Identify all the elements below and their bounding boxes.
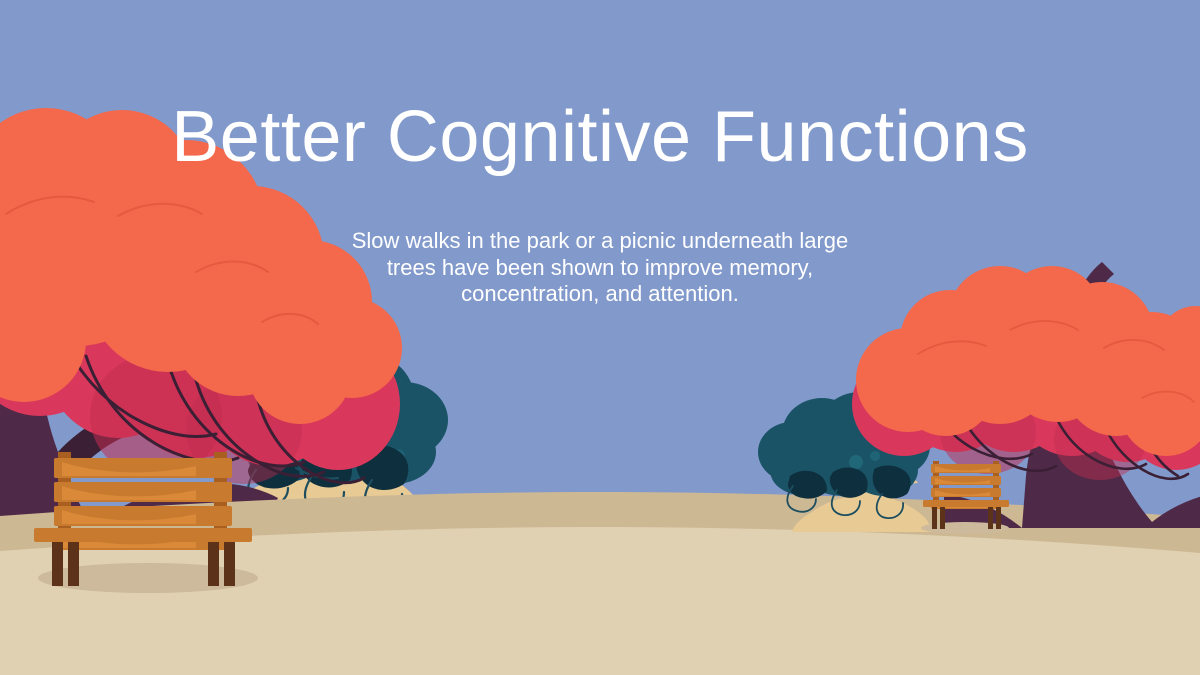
slide-canvas: Better Cognitive Functions Slow walks in…: [0, 0, 1200, 675]
right-bench-seat: [923, 500, 1009, 507]
park-illustration: [0, 0, 1200, 675]
left-park-bench: [34, 452, 258, 593]
left-bench-seat: [34, 528, 252, 542]
